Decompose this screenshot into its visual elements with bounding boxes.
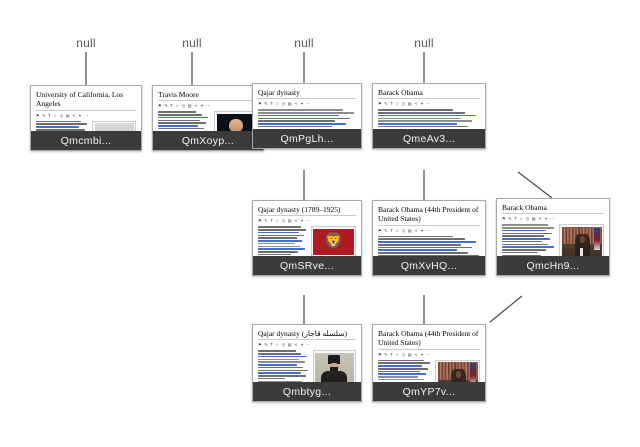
node-hash-label[interactable]: Qmcmbi...: [31, 131, 141, 150]
star-icon[interactable]: ☆: [275, 101, 279, 107]
text-size-icon[interactable]: T: [270, 101, 273, 107]
text-line: [258, 353, 301, 355]
article-title: Barack Obama (44th President of United S…: [378, 329, 480, 350]
article-text: [258, 226, 307, 256]
text-line: [378, 115, 476, 117]
paragraph: [36, 121, 88, 131]
article-columns: 🦁 Sublime State of Persiaدولت علیهٔ ایرا…: [258, 226, 356, 256]
link-icon[interactable]: ⚭: [420, 101, 424, 107]
node-hash-label[interactable]: QmXoyp...: [153, 131, 263, 150]
text-line: [378, 236, 453, 238]
person-face: [580, 236, 585, 243]
node-hash-label[interactable]: Qmbtyg...: [253, 382, 361, 401]
link-icon[interactable]: ⚭: [78, 113, 82, 119]
bookmarks-icon[interactable]: ▤: [532, 216, 536, 222]
text-line: [378, 238, 465, 240]
share-icon[interactable]: ≺: [294, 218, 298, 224]
text-size-icon[interactable]: T: [170, 103, 173, 109]
article-title: Qajar dynasty (1789–1925): [258, 205, 356, 216]
person-shirt: [580, 248, 583, 256]
article-toolbar[interactable]: ⚑✎T☆◷▤≺⚭⋯: [158, 103, 258, 109]
text-line: [158, 128, 204, 130]
root-null-label-1: null: [182, 36, 201, 50]
share-icon[interactable]: ≺: [414, 228, 418, 234]
text-line: [502, 224, 548, 226]
text-line: [258, 248, 305, 250]
star-icon[interactable]: ☆: [519, 216, 523, 222]
text-line: [378, 249, 457, 251]
text-line: [158, 114, 202, 116]
edge-obama44b-obamainfo: [490, 296, 522, 322]
share-icon[interactable]: ≺: [538, 216, 542, 222]
text-line: [502, 255, 541, 256]
pencil-icon[interactable]: ✎: [264, 101, 268, 107]
text-line: [378, 255, 479, 256]
text-line: [258, 381, 302, 382]
star-icon[interactable]: ☆: [395, 101, 399, 107]
star-icon[interactable]: ☆: [395, 228, 399, 234]
text-line: [258, 120, 335, 122]
text-line: [258, 361, 305, 363]
text-line: [378, 112, 465, 114]
pencil-icon[interactable]: ✎: [508, 216, 512, 222]
node-hash-label[interactable]: QmPgLh...: [253, 129, 361, 148]
text-size-icon[interactable]: T: [390, 352, 393, 358]
more-icon[interactable]: ⋯: [206, 103, 210, 109]
text-line: [502, 230, 546, 232]
bookmarks-icon[interactable]: ▤: [288, 218, 292, 224]
star-icon[interactable]: ☆: [275, 342, 279, 348]
share-icon[interactable]: ≺: [294, 342, 298, 348]
article-columns: Sublime State of Persia: [258, 350, 356, 382]
article-columns: 44th President of the United StatesBarac…: [378, 360, 480, 382]
text-line: [158, 122, 206, 124]
link-icon[interactable]: ⚭: [300, 218, 304, 224]
text-line: [258, 359, 299, 361]
bookmark-icon[interactable]: ⚑: [378, 101, 382, 107]
text-line: [502, 252, 538, 254]
article-text: [378, 236, 480, 256]
clock-icon[interactable]: ◷: [182, 103, 186, 109]
text-line: [378, 109, 453, 111]
text-size-icon[interactable]: T: [270, 342, 273, 348]
text-line: [36, 123, 87, 125]
article-title: Barack Obama: [378, 88, 480, 99]
text-line: [502, 244, 548, 246]
bookmarks-icon[interactable]: ▤: [288, 101, 292, 107]
text-line: [502, 235, 544, 237]
article-title: Travis Moore: [158, 90, 258, 101]
bookmarks-icon[interactable]: ▤: [288, 342, 292, 348]
paragraph: [258, 381, 309, 382]
more-icon[interactable]: ⋯: [426, 352, 430, 358]
paragraph: [378, 236, 480, 256]
text-line: [258, 364, 297, 366]
article-text: [502, 224, 555, 256]
clock-icon[interactable]: ◷: [60, 113, 64, 119]
clock-icon[interactable]: ◷: [282, 101, 286, 107]
text-line: [258, 372, 301, 374]
text-line: [378, 126, 468, 128]
article-text: [158, 111, 210, 131]
text-line: [378, 252, 468, 254]
pencil-icon[interactable]: ✎: [264, 342, 268, 348]
text-line: [378, 368, 428, 370]
article-title: Barack Obama (44th President of United S…: [378, 205, 480, 226]
graph-node-card[interactable]: Barack Obama ⚑✎T☆◷▤≺⚭⋯ 44th President of…: [496, 198, 610, 276]
text-line: [258, 350, 296, 352]
text-line: [258, 370, 308, 372]
node-hash-label[interactable]: QmYP7v...: [373, 382, 485, 401]
root-null-label-2: null: [294, 36, 313, 50]
text-line: [378, 244, 461, 246]
bookmarks-icon[interactable]: ▤: [66, 113, 70, 119]
lion-and-sun-flag: 🦁: [313, 229, 353, 255]
bookmarks-icon[interactable]: ▤: [408, 101, 412, 107]
text-line: [502, 249, 546, 251]
text-line: [258, 237, 297, 239]
text-line: [378, 379, 424, 381]
graph-canvas: nullnullnullnull University of Californi…: [0, 0, 640, 447]
link-icon[interactable]: ⚭: [420, 352, 424, 358]
bookmark-icon[interactable]: ⚑: [258, 218, 262, 224]
more-icon[interactable]: ⋯: [426, 228, 430, 234]
link-icon[interactable]: ⚭: [420, 228, 424, 234]
share-icon[interactable]: ≺: [414, 352, 418, 358]
graph-node-card[interactable]: Barack Obama ⚑✎T☆◷▤≺⚭⋯ QmeAv3...: [372, 83, 486, 149]
article-text: [36, 121, 88, 131]
article-infobox: Faculty membershipThe original campus bu…: [92, 121, 136, 131]
lion-icon: 🦁: [324, 234, 344, 250]
qajar-body: [321, 371, 347, 382]
more-icon[interactable]: ⋯: [84, 113, 88, 119]
pencil-icon[interactable]: ✎: [384, 352, 388, 358]
bookmark-icon[interactable]: ⚑: [378, 228, 382, 234]
article-photo: [562, 227, 602, 256]
text-line: [258, 356, 307, 358]
text-line: [378, 376, 418, 378]
article-title: Barack Obama: [502, 203, 604, 214]
paragraph: [258, 350, 309, 379]
pencil-icon[interactable]: ✎: [164, 103, 168, 109]
paragraph: [502, 224, 555, 253]
clock-icon[interactable]: ◷: [402, 228, 406, 234]
flag-decor: [594, 228, 600, 250]
paragraph: [258, 226, 307, 255]
link-icon[interactable]: ⚭: [200, 103, 204, 109]
article-columns: [378, 236, 480, 256]
more-icon[interactable]: ⋯: [306, 101, 310, 107]
graph-node-card[interactable]: Barack Obama (44th President of United S…: [372, 324, 486, 402]
article-toolbar[interactable]: ⚑✎T☆◷▤≺⚭⋯: [258, 101, 356, 107]
pencil-icon[interactable]: ✎: [264, 218, 268, 224]
article-photo: [95, 123, 134, 131]
text-line: [502, 246, 554, 248]
text-line: [378, 241, 476, 243]
flag-decor: [470, 363, 476, 382]
text-line: [258, 112, 354, 114]
graph-node-card[interactable]: University of California, Los Angeles ⚑✎…: [30, 85, 142, 151]
article-text: [378, 360, 431, 382]
text-line: [258, 367, 303, 369]
share-icon[interactable]: ≺: [72, 113, 76, 119]
article-toolbar[interactable]: ⚑✎T☆◷▤≺⚭⋯: [378, 101, 480, 107]
article-photo: [438, 362, 478, 382]
text-line: [502, 227, 554, 229]
star-icon[interactable]: ☆: [175, 103, 179, 109]
share-icon[interactable]: ≺: [194, 103, 198, 109]
article-toolbar[interactable]: ⚑✎T☆◷▤≺⚭⋯: [258, 218, 356, 224]
bookmark-icon[interactable]: ⚑: [502, 216, 506, 222]
article-text: [258, 350, 309, 382]
article-columns: Origins: [258, 109, 356, 129]
text-line: [258, 243, 295, 245]
text-line: [158, 120, 200, 122]
article-infobox: Sublime State of Persia: [313, 350, 356, 382]
pencil-icon[interactable]: ✎: [384, 101, 388, 107]
article-toolbar[interactable]: ⚑✎T☆◷▤≺⚭⋯: [502, 216, 604, 222]
text-size-icon[interactable]: T: [514, 216, 517, 222]
node-hash-label[interactable]: QmeAv3...: [373, 129, 485, 148]
text-size-icon[interactable]: T: [390, 228, 393, 234]
text-line: [258, 254, 291, 256]
node-hash-label[interactable]: QmcHn9...: [497, 256, 609, 275]
text-line: [158, 111, 196, 113]
article-title: Qajar dynasty (سلسله قاجار): [258, 329, 356, 340]
article-columns: 44th President of the United StatesBarac…: [502, 224, 604, 256]
article-preview: Qajar dynasty (سلسله قاجار) ⚑✎T☆◷▤≺⚭⋯ Su…: [253, 325, 361, 382]
more-icon[interactable]: ⋯: [426, 101, 430, 107]
node-hash-label[interactable]: QmXvHQ...: [373, 256, 485, 275]
paragraph: [502, 255, 555, 256]
share-icon[interactable]: ≺: [414, 101, 418, 107]
article-infobox: 44th President of the United StatesBarac…: [435, 360, 480, 382]
star-icon[interactable]: ☆: [395, 352, 399, 358]
edge-obama-obamainfo: [518, 172, 552, 198]
article-toolbar[interactable]: ⚑✎T☆◷▤≺⚭⋯: [378, 228, 480, 234]
clock-icon[interactable]: ◷: [282, 218, 286, 224]
article-preview: Barack Obama (44th President of United S…: [373, 201, 485, 256]
share-icon[interactable]: ≺: [294, 101, 298, 107]
link-icon[interactable]: ⚭: [300, 342, 304, 348]
paragraph: [258, 109, 356, 129]
bookmark-icon[interactable]: ⚑: [36, 113, 40, 119]
text-line: [258, 375, 306, 377]
text-line: [258, 378, 285, 380]
article-infobox: 🦁 Sublime State of Persiaدولت علیهٔ ایرا…: [311, 226, 356, 256]
graph-node-card[interactable]: Barack Obama (44th President of United S…: [372, 200, 486, 276]
pencil-icon[interactable]: ✎: [384, 228, 388, 234]
text-line: [378, 247, 472, 249]
article-title: University of California, Los Angeles: [36, 90, 136, 111]
text-line: [378, 118, 461, 120]
graph-node-card[interactable]: Qajar dynasty (1789–1925) ⚑✎T☆◷▤≺⚭⋯ 🦁 Su…: [252, 200, 362, 276]
article-preview: Qajar dynasty (1789–1925) ⚑✎T☆◷▤≺⚭⋯ 🦁 Su…: [253, 201, 361, 256]
clock-icon[interactable]: ◷: [402, 101, 406, 107]
text-line: [378, 371, 420, 373]
bookmarks-icon[interactable]: ▤: [408, 352, 412, 358]
text-line: [258, 235, 304, 237]
text-size-icon[interactable]: T: [270, 218, 273, 224]
text-line: [378, 362, 430, 364]
article-toolbar[interactable]: ⚑✎T☆◷▤≺⚭⋯: [258, 342, 356, 348]
graph-node-card[interactable]: Travis Moore ⚑✎T☆◷▤≺⚭⋯ Travis MooreTravi…: [152, 85, 264, 151]
text-line: [36, 126, 79, 128]
article-preview: Barack Obama ⚑✎T☆◷▤≺⚭⋯ 44th President of…: [497, 199, 609, 256]
text-line: [378, 123, 457, 125]
clock-icon[interactable]: ◷: [282, 342, 286, 348]
article-columns: Travis MooreTravis Moore Height 6 ft 1 i…: [158, 111, 258, 131]
article-text: Origins: [258, 109, 356, 129]
text-line: [258, 226, 301, 228]
paragraph: [378, 109, 480, 129]
text-size-icon[interactable]: T: [48, 113, 51, 119]
article-preview: Barack Obama (44th President of United S…: [373, 325, 485, 382]
node-hash-label[interactable]: QmSRve...: [253, 256, 361, 275]
clock-icon[interactable]: ◷: [402, 352, 406, 358]
more-icon[interactable]: ⋯: [306, 342, 310, 348]
more-icon[interactable]: ⋯: [306, 218, 310, 224]
article-photo: [315, 353, 353, 382]
article-title: Qajar dynasty: [258, 88, 356, 99]
text-line: [378, 360, 424, 362]
link-icon[interactable]: ⚭: [300, 101, 304, 107]
root-null-label-0: null: [76, 36, 95, 50]
text-line: [258, 126, 332, 128]
text-line: [258, 246, 300, 248]
text-line: [258, 240, 302, 242]
article-photo: [217, 114, 256, 131]
graph-node-card[interactable]: Qajar dynasty (سلسله قاجار) ⚑✎T☆◷▤≺⚭⋯ Su…: [252, 324, 362, 402]
bookmark-icon[interactable]: ⚑: [378, 352, 382, 358]
more-icon[interactable]: ⋯: [550, 216, 554, 222]
article-toolbar[interactable]: ⚑✎T☆◷▤≺⚭⋯: [36, 113, 136, 119]
text-line: [258, 118, 350, 120]
root-null-label-3: null: [414, 36, 433, 50]
bookmarks-icon[interactable]: ▤: [188, 103, 192, 109]
pencil-icon[interactable]: ✎: [42, 113, 46, 119]
text-line: [36, 129, 85, 131]
article-preview: Qajar dynasty ⚑✎T☆◷▤≺⚭⋯ Origins: [253, 84, 361, 129]
text-line: [502, 233, 552, 235]
article-infobox: 44th President of the United StatesBarac…: [559, 224, 604, 256]
text-line: [258, 123, 346, 125]
article-preview: Travis Moore ⚑✎T☆◷▤≺⚭⋯ Travis MooreTravi…: [153, 86, 263, 131]
text-line: [378, 373, 426, 375]
star-icon[interactable]: ☆: [275, 218, 279, 224]
link-icon[interactable]: ⚭: [544, 216, 548, 222]
text-line: [36, 121, 81, 123]
text-line: [258, 251, 298, 253]
text-line: [158, 117, 208, 119]
text-line: [158, 125, 198, 127]
text-line: [258, 229, 306, 231]
article-toolbar[interactable]: ⚑✎T☆◷▤≺⚭⋯: [378, 352, 480, 358]
text-size-icon[interactable]: T: [390, 101, 393, 107]
graph-node-card[interactable]: Qajar dynasty ⚑✎T☆◷▤≺⚭⋯ Origins QmPgLh..…: [252, 83, 362, 149]
article-columns: Faculty membershipThe original campus bu…: [36, 121, 136, 131]
bookmark-icon[interactable]: ⚑: [258, 342, 262, 348]
text-line: [258, 115, 339, 117]
text-line: [502, 238, 550, 240]
article-preview: University of California, Los Angeles ⚑✎…: [31, 86, 141, 131]
paragraph: [158, 111, 210, 131]
text-line: [378, 365, 422, 367]
text-line: [378, 120, 472, 122]
clock-icon[interactable]: ◷: [526, 216, 530, 222]
star-icon[interactable]: ☆: [53, 113, 57, 119]
text-line: [258, 109, 343, 111]
bookmark-icon[interactable]: ⚑: [258, 101, 262, 107]
text-line: [258, 232, 299, 234]
bookmarks-icon[interactable]: ▤: [408, 228, 412, 234]
text-line: [502, 241, 542, 243]
article-text: [378, 109, 480, 129]
paragraph: [378, 360, 431, 382]
article-preview: Barack Obama ⚑✎T☆◷▤≺⚭⋯: [373, 84, 485, 129]
article-columns: [378, 109, 480, 129]
bookmark-icon[interactable]: ⚑: [158, 103, 162, 109]
